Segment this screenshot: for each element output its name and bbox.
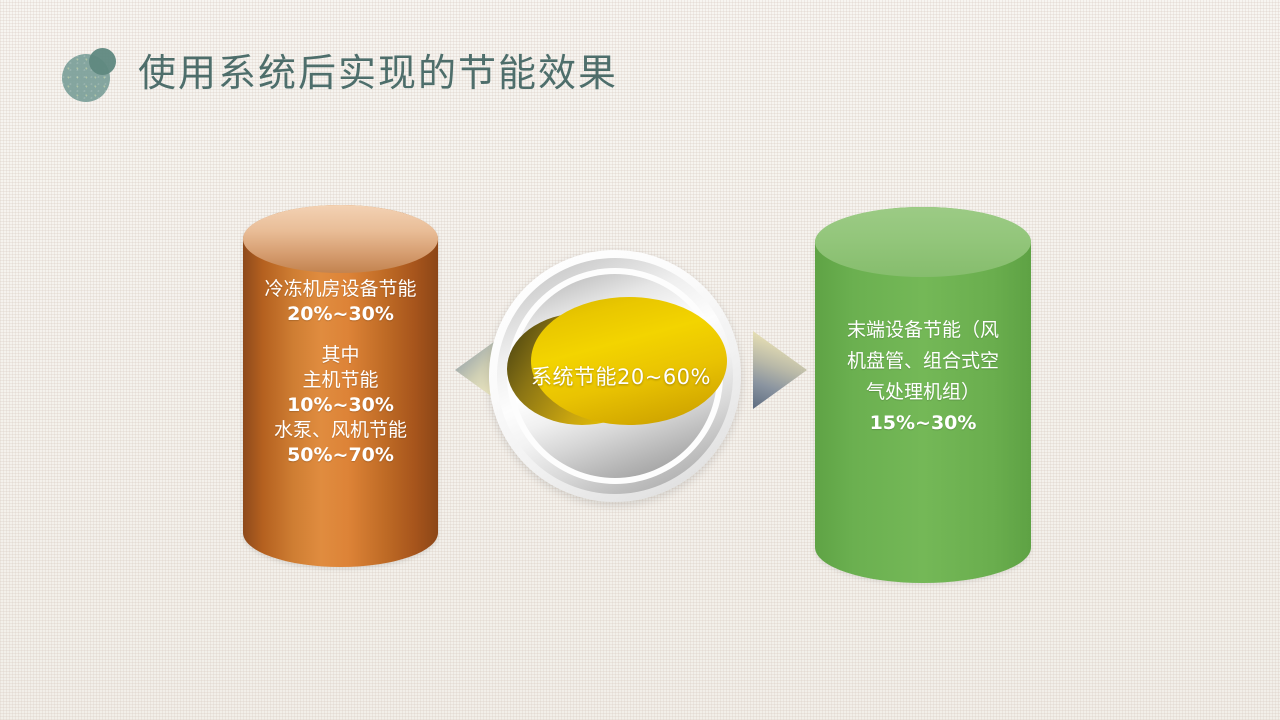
- slide-title-bar: 使用系统后实现的节能效果: [0, 38, 1280, 110]
- slide-canvas: 使用系统后实现的节能效果 冷冻机房设备节能 20%~30% 其中 主机节能 10…: [0, 0, 1280, 720]
- right-line-2: 机盘管、组合式空: [815, 346, 1031, 377]
- right-line-1: 末端设备节能（风: [815, 315, 1031, 346]
- right-value: 15%~30%: [815, 408, 1031, 439]
- icon-circle-small: [89, 48, 116, 75]
- right-cylinder-label: 末端设备节能（风 机盘管、组合式空 气处理机组） 15%~30%: [815, 315, 1031, 439]
- center-badge: 系统节能20~60%: [489, 250, 741, 502]
- left-item2-value: 50%~70%: [243, 443, 438, 468]
- right-cylinder: 末端设备节能（风 机盘管、组合式空 气处理机组） 15%~30%: [815, 207, 1031, 583]
- page-title: 使用系统后实现的节能效果: [138, 38, 618, 108]
- left-cylinder-label: 冷冻机房设备节能 20%~30% 其中 主机节能 10%~30% 水泵、风机节能…: [243, 277, 438, 468]
- arrow-right-icon: [753, 331, 807, 409]
- left-sub-label: 其中: [243, 343, 438, 368]
- left-item1-value: 10%~30%: [243, 393, 438, 418]
- left-item1-label: 主机节能: [243, 368, 438, 393]
- left-cylinder-top-ellipse: [243, 205, 438, 273]
- center-badge-label: 系统节能20~60%: [489, 250, 741, 502]
- right-cylinder-top-ellipse: [815, 207, 1031, 277]
- left-heading: 冷冻机房设备节能: [243, 277, 438, 302]
- left-cylinder: 冷冻机房设备节能 20%~30% 其中 主机节能 10%~30% 水泵、风机节能…: [243, 205, 438, 567]
- left-item2-label: 水泵、风机节能: [243, 418, 438, 443]
- two-overlapping-circles-icon: [62, 48, 116, 102]
- left-heading-value: 20%~30%: [243, 302, 438, 327]
- right-line-3: 气处理机组）: [815, 377, 1031, 408]
- left-spacer: [243, 327, 438, 343]
